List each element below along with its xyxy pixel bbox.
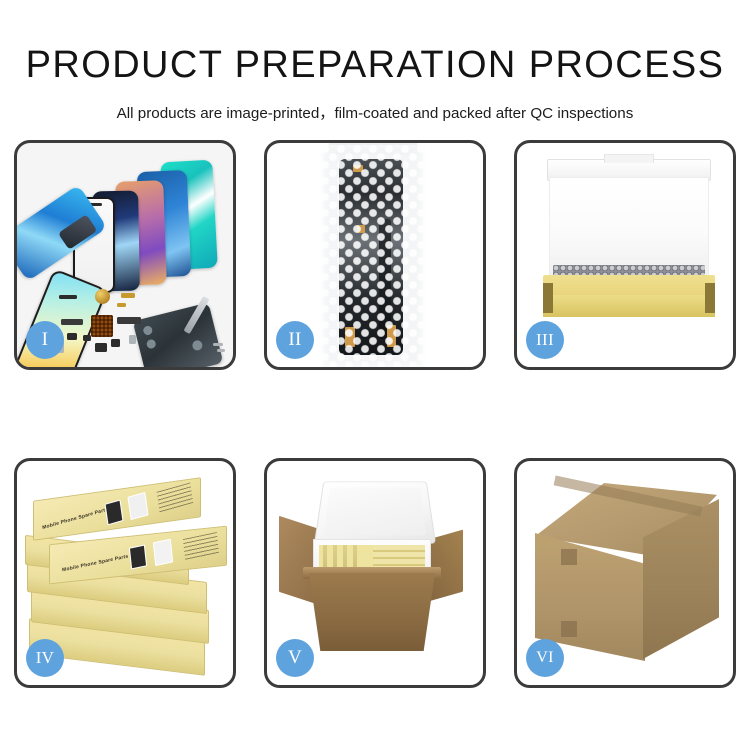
step-badge-3: III (526, 321, 564, 359)
connector-icon (121, 293, 135, 298)
process-step-panel-4: Mobile Phone Spare Parts Mobile Phone Sp… (14, 458, 236, 688)
styrofoam-lid-icon (314, 481, 436, 543)
box-side-right-icon (705, 283, 715, 313)
small-part-icon (67, 333, 77, 340)
small-part-icon (111, 339, 120, 347)
process-step-panel-5: V (264, 458, 486, 688)
styrofoam-lid-inner-icon (324, 488, 426, 536)
carton-body-icon (309, 573, 435, 651)
step-badge-4: IV (26, 639, 64, 677)
carton-tab-icon (561, 621, 577, 637)
screw-icon (213, 343, 223, 346)
camera-module-icon (95, 343, 107, 352)
connector-icon (117, 303, 126, 307)
camera-lens-icon (146, 339, 157, 350)
phone-back-housing-icon (133, 302, 224, 370)
header: PRODUCT PREPARATION PROCESS All products… (0, 0, 750, 123)
step-badge-2: II (276, 321, 314, 359)
camera-lens-icon (191, 339, 203, 351)
carton-tab-icon (561, 549, 577, 565)
process-step-panel-3: III (514, 140, 736, 370)
step-badge-5: V (276, 639, 314, 677)
small-part-icon (83, 335, 91, 341)
box-window-icon (153, 539, 173, 566)
process-step-panel-2: II (264, 140, 486, 370)
earpiece-speaker-icon (59, 295, 77, 299)
box-window-icon (129, 545, 147, 570)
flex-cable-icon (117, 317, 141, 324)
vibration-motor-icon (95, 289, 110, 304)
process-step-panel-1: I (14, 140, 236, 370)
box-window-icon (127, 492, 148, 520)
box-side-left-icon (543, 283, 553, 313)
yellow-box-front-icon (543, 295, 715, 317)
bag-edge-icon (321, 145, 425, 367)
camera-lens-icon (142, 325, 153, 336)
bubble-bag-icon (321, 145, 425, 367)
step-badge-6: VI (526, 639, 564, 677)
process-step-grid: I II (14, 140, 736, 692)
page-subtitle: All products are image-printed，film-coat… (0, 84, 750, 123)
small-part-icon (129, 335, 136, 344)
flex-cable-icon (61, 319, 83, 325)
process-step-panel-6: VI (514, 458, 736, 688)
page-title: PRODUCT PREPARATION PROCESS (0, 0, 750, 84)
ic-chip-grid-icon (91, 315, 113, 337)
screw-icon (217, 349, 225, 352)
foam-liner-icon (549, 177, 709, 277)
product-preparation-infographic: PRODUCT PREPARATION PROCESS All products… (0, 0, 750, 750)
box-window-icon (105, 500, 124, 526)
step-badge-1: I (26, 321, 64, 359)
